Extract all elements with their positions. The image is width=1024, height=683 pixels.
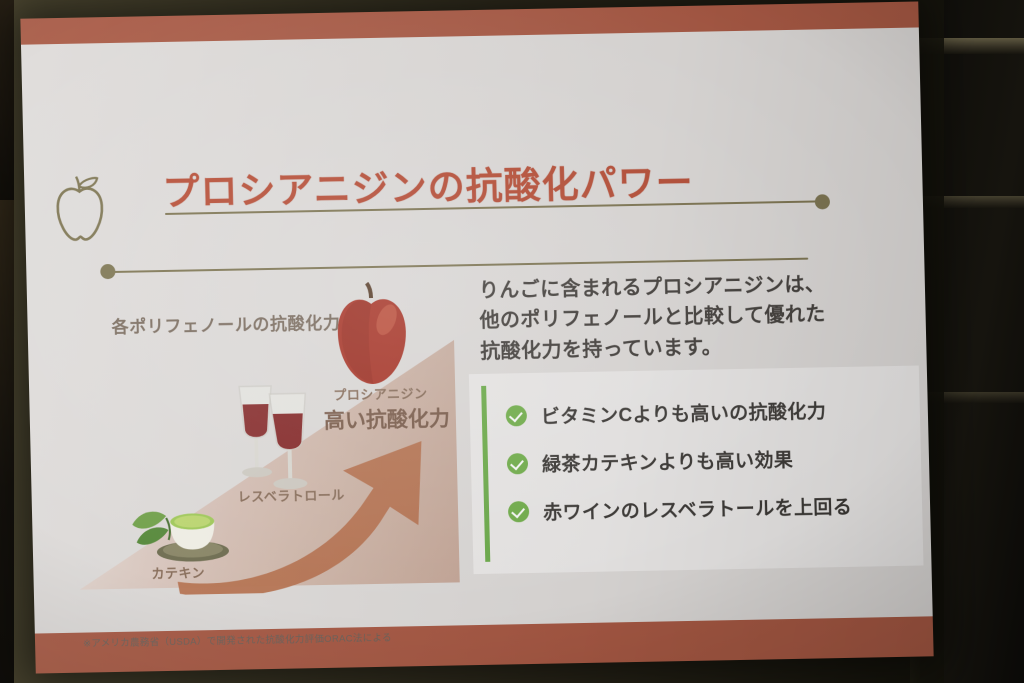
benefits-panel: ビタミンCよりも高いの抗酸化力 緑茶カテキンよりも高い効果 赤ワインのレスベラト… — [469, 366, 924, 575]
apple-outline-icon — [48, 173, 112, 246]
chart-label-procyanidin: プロシアニジン — [333, 383, 428, 404]
chart-callout-high-antioxidant: 高い抗酸化力 — [324, 403, 451, 435]
title-row: プロシアニジンの抗酸化パワー — [24, 147, 925, 279]
benefits-list: ビタミンCよりも高いの抗酸化力 緑茶カテキンよりも高い効果 赤ワインのレスベラト… — [505, 384, 912, 536]
list-item-label: ビタミンCよりも高いの抗酸化力 — [541, 396, 827, 428]
list-item: 赤ワインのレスベラトールを上回る — [508, 480, 913, 536]
lead-paragraph: りんごに含まれるプロシアニジンは、 他のポリフェノールと比較して優れた 抗酸化力… — [479, 268, 911, 367]
panel-accent-bar — [481, 386, 490, 562]
title-rule-bottom-dot — [100, 264, 115, 279]
projected-slide: プロシアニジンの抗酸化パワー 各ポリフェノールの抗酸化力 — [20, 1, 933, 673]
list-item-label: 緑茶カテキンよりも高い効果 — [542, 444, 794, 476]
list-item: ビタミンCよりも高いの抗酸化力 — [505, 384, 910, 440]
check-circle-icon — [508, 501, 529, 522]
title-rule-top-dot — [815, 194, 830, 209]
page-title: プロシアニジンの抗酸化パワー — [162, 152, 694, 216]
check-circle-icon — [506, 405, 527, 426]
slide-body: プロシアニジンの抗酸化パワー 各ポリフェノールの抗酸化力 — [21, 27, 933, 633]
wine-glasses-image — [225, 377, 328, 497]
slide-canvas: プロシアニジンの抗酸化パワー 各ポリフェノールの抗酸化力 — [20, 1, 933, 673]
list-item-label: 赤ワインのレスベラトールを上回る — [543, 491, 853, 524]
chart-label-catechin: カテキン — [151, 562, 205, 582]
chart-title: 各ポリフェノールの抗酸化力 — [111, 309, 340, 338]
chart-label-resveratrol: レスベラトロール — [237, 485, 345, 506]
red-apple-image — [329, 281, 416, 391]
list-item: 緑茶カテキンよりも高い効果 — [506, 432, 911, 488]
green-tea-cup-image — [125, 479, 237, 567]
check-circle-icon — [507, 453, 528, 474]
antioxidant-chart: 各ポリフェノールの抗酸化力 — [73, 284, 471, 621]
